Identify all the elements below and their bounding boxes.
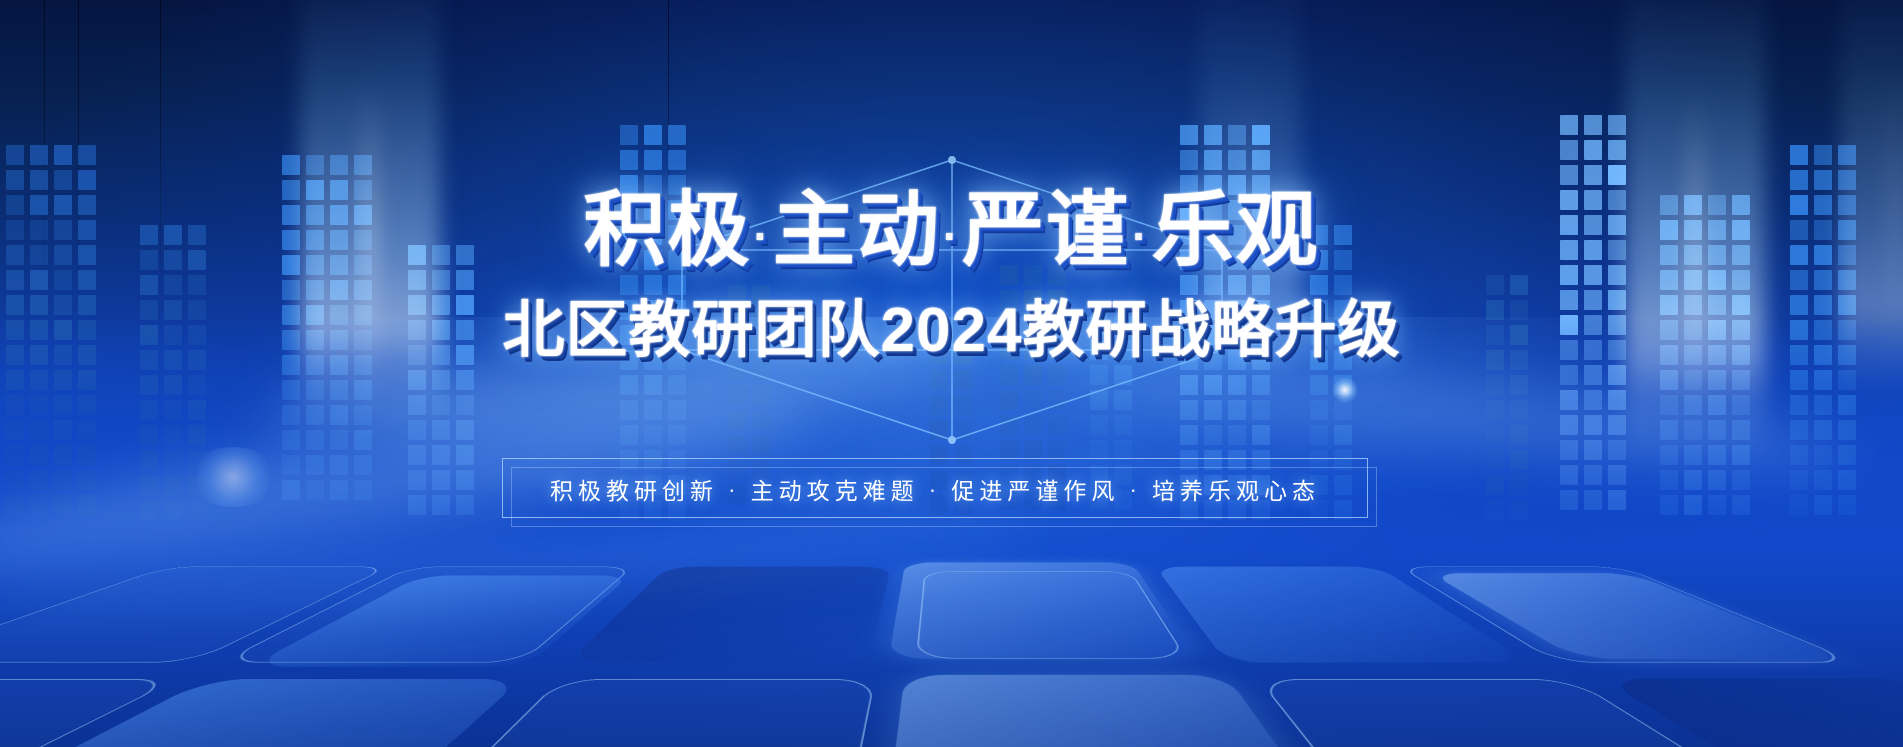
tagline-item-2: 主动攻克难题 (751, 472, 919, 506)
tagline-item-4: 培养乐观心态 (1152, 472, 1320, 506)
headline-separator: · (1130, 210, 1151, 262)
headline-word-3: 严谨 (962, 185, 1130, 276)
hero-subheadline: 北区教研团队2024教研战略升级 (0, 300, 1903, 362)
tagline-separator: · (718, 476, 751, 503)
tagline-item-1: 积极教研创新 (550, 472, 718, 506)
tagline-separator: · (919, 476, 952, 503)
tagline-separator: · (1119, 476, 1152, 503)
tagline-frame: 积极教研创新 · 主动攻克难题 · 促进严谨作风 · 培养乐观心态 (502, 458, 1368, 518)
headline-word-1: 积极 (583, 185, 751, 276)
tagline-text: 积极教研创新 · 主动攻克难题 · 促进严谨作风 · 培养乐观心态 (503, 459, 1367, 519)
headline-word-2: 主动 (773, 185, 941, 276)
headline-word-4: 乐观 (1152, 185, 1320, 276)
banner-hero: 积极·主动·严谨·乐观 北区教研团队2024教研战略升级 积极教研创新 · 主动… (0, 0, 1903, 747)
headline-separator: · (751, 210, 772, 262)
hero-headline: 积极·主动·严谨·乐观 (0, 190, 1903, 272)
tagline-item-3: 促进严谨作风 (951, 472, 1119, 506)
headline-separator: · (941, 210, 962, 262)
